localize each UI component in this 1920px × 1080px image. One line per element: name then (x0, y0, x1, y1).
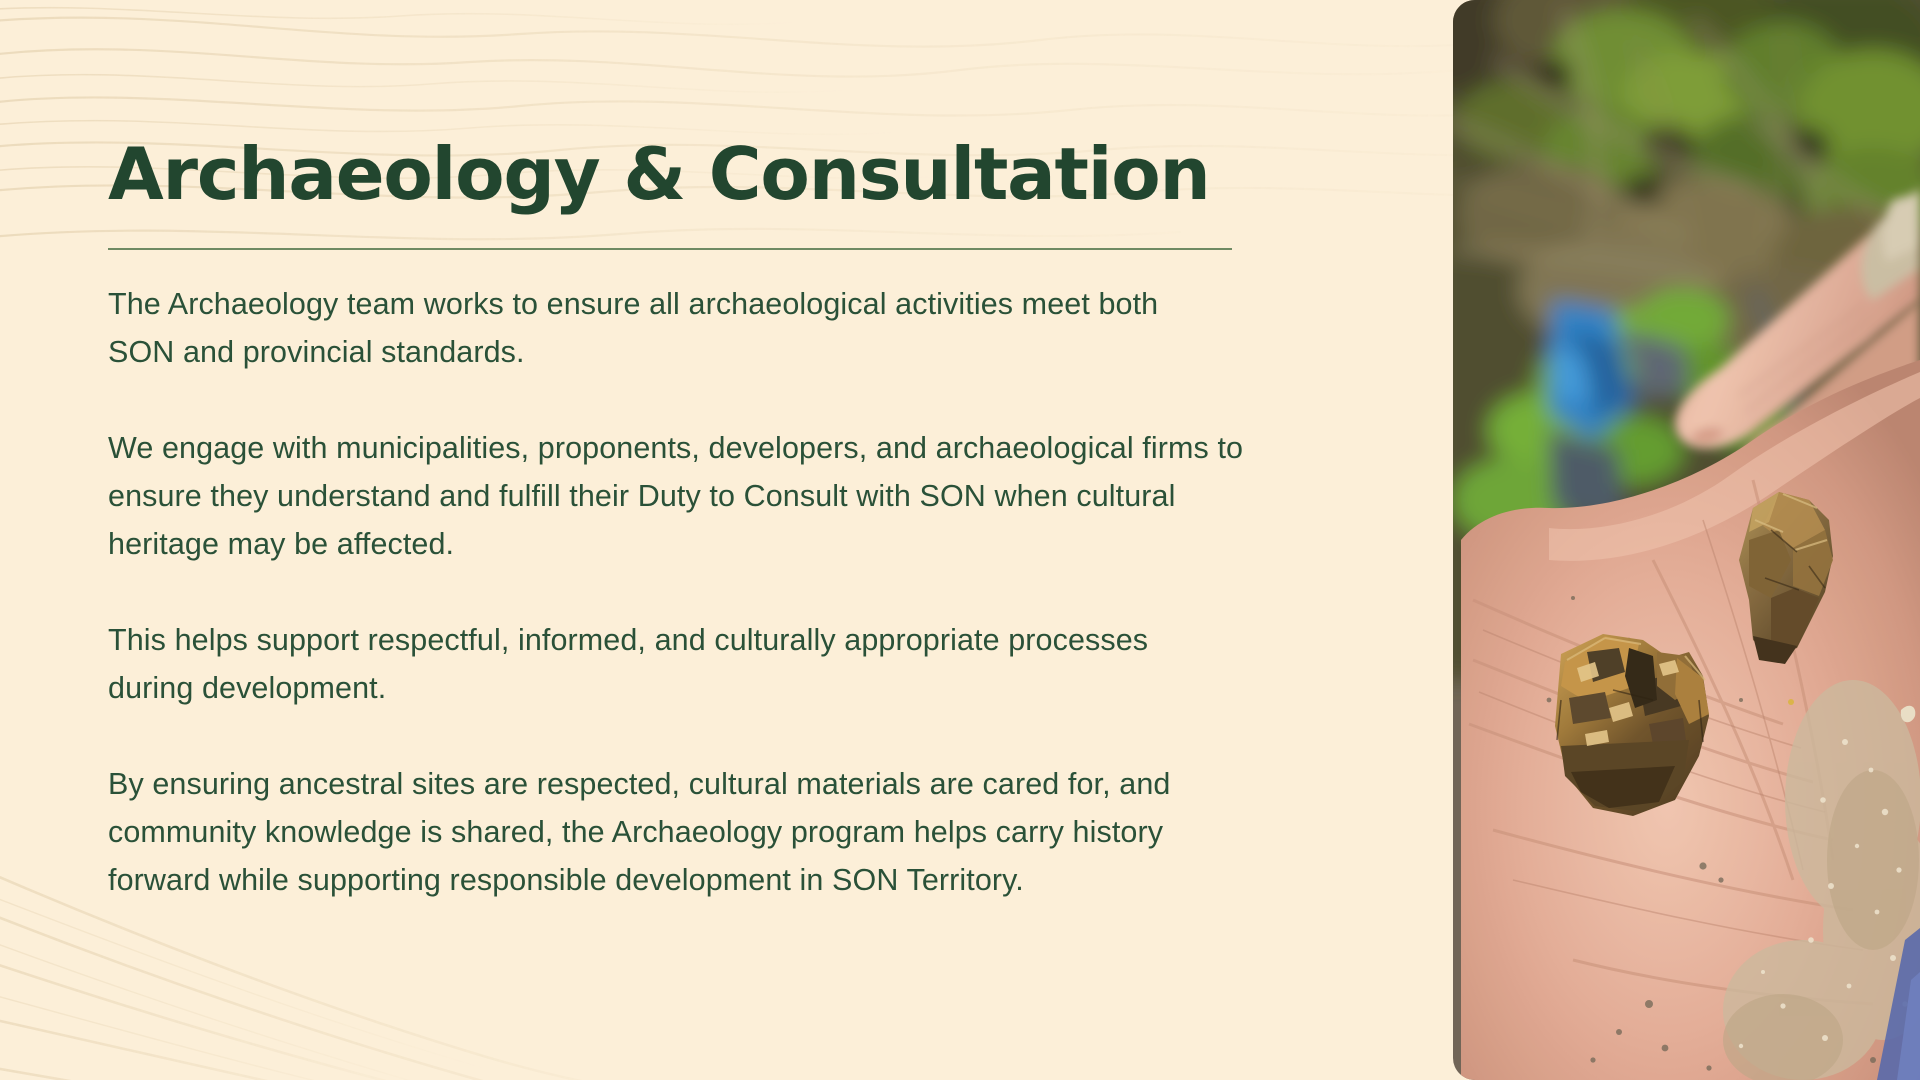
body-copy: The Archaeology team works to ensure all… (108, 280, 1268, 904)
paragraph-1: The Archaeology team works to ensure all… (108, 280, 1228, 376)
page-title: Archaeology & Consultation (108, 138, 1288, 210)
paragraph-2: We engage with municipalities, proponent… (108, 424, 1258, 568)
text-column: Archaeology & Consultation The Archaeolo… (108, 138, 1288, 904)
paragraph-4: By ensuring ancestral sites are respecte… (108, 760, 1268, 904)
paragraph-3: This helps support respectful, informed,… (108, 616, 1233, 712)
title-divider (108, 248, 1232, 250)
slide-root: Archaeology & Consultation The Archaeolo… (0, 0, 1920, 1080)
artifact-photo (1453, 0, 1920, 1080)
